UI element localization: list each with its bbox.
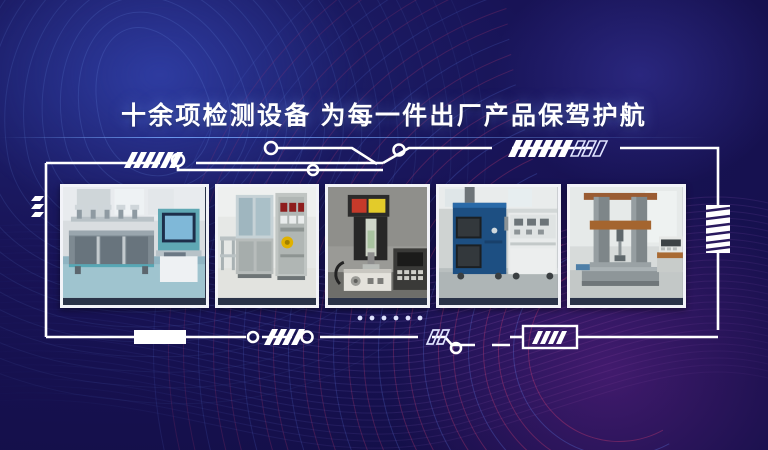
photo-industrial-testing-line[interactable]	[60, 184, 209, 308]
equipment-photo-strip	[60, 184, 686, 302]
photo-industrial-furnace[interactable]	[436, 184, 561, 308]
universal-testing-machine-photo	[570, 187, 683, 298]
industrial-furnace-photo	[439, 187, 558, 298]
industrial-testing-line-photo	[63, 187, 205, 298]
photo-universal-testing-machine[interactable]	[567, 184, 686, 308]
header-divider-line	[0, 137, 768, 138]
banner-stage: 十余项检测设备 为每一件出厂产品保驾护航	[0, 0, 768, 450]
banner-title: 十余项检测设备 为每一件出厂产品保驾护航	[0, 96, 768, 132]
hardness-tester-photo	[328, 187, 427, 298]
photo-hardness-tester[interactable]	[325, 184, 430, 308]
photo-control-cabinet[interactable]	[215, 184, 320, 308]
control-cabinet-photo	[218, 187, 317, 298]
